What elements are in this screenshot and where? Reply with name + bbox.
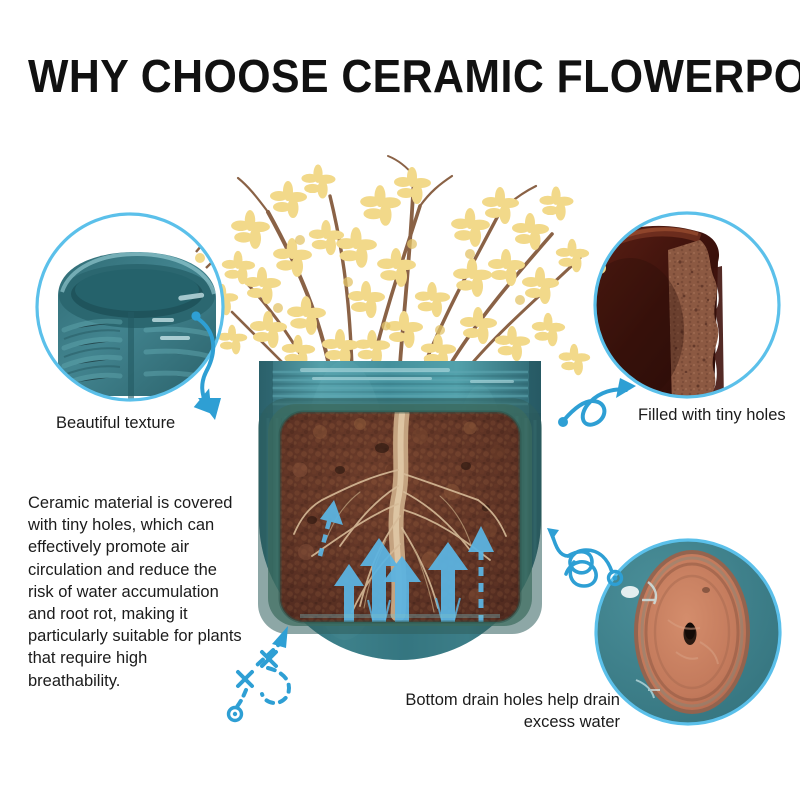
callout-circle-bottom-drain-holes [596, 540, 780, 724]
callout-label-beautiful-texture: Beautiful texture [56, 413, 286, 434]
callout-circle-filled-with-tiny-holes [576, 213, 779, 404]
ceramic-flowerpot [258, 360, 542, 729]
body-paragraph: Ceramic material is covered with tiny ho… [28, 492, 242, 692]
callout-label-bottom-drain-holes: Bottom drain holes help drain excess wat… [404, 690, 620, 734]
soil-cutaway-window [258, 398, 542, 634]
callout-label-filled-with-tiny-holes: Filled with tiny holes [638, 405, 788, 426]
connector-filled-with-tiny-holes [558, 378, 636, 427]
connector-bottom-drain-holes [547, 528, 622, 586]
infographic-canvas: WHY CHOOSE CERAMIC FLOWERPOTS [0, 0, 800, 800]
flower-bouquet [207, 156, 590, 375]
callout-circle-beautiful-texture [37, 214, 232, 400]
